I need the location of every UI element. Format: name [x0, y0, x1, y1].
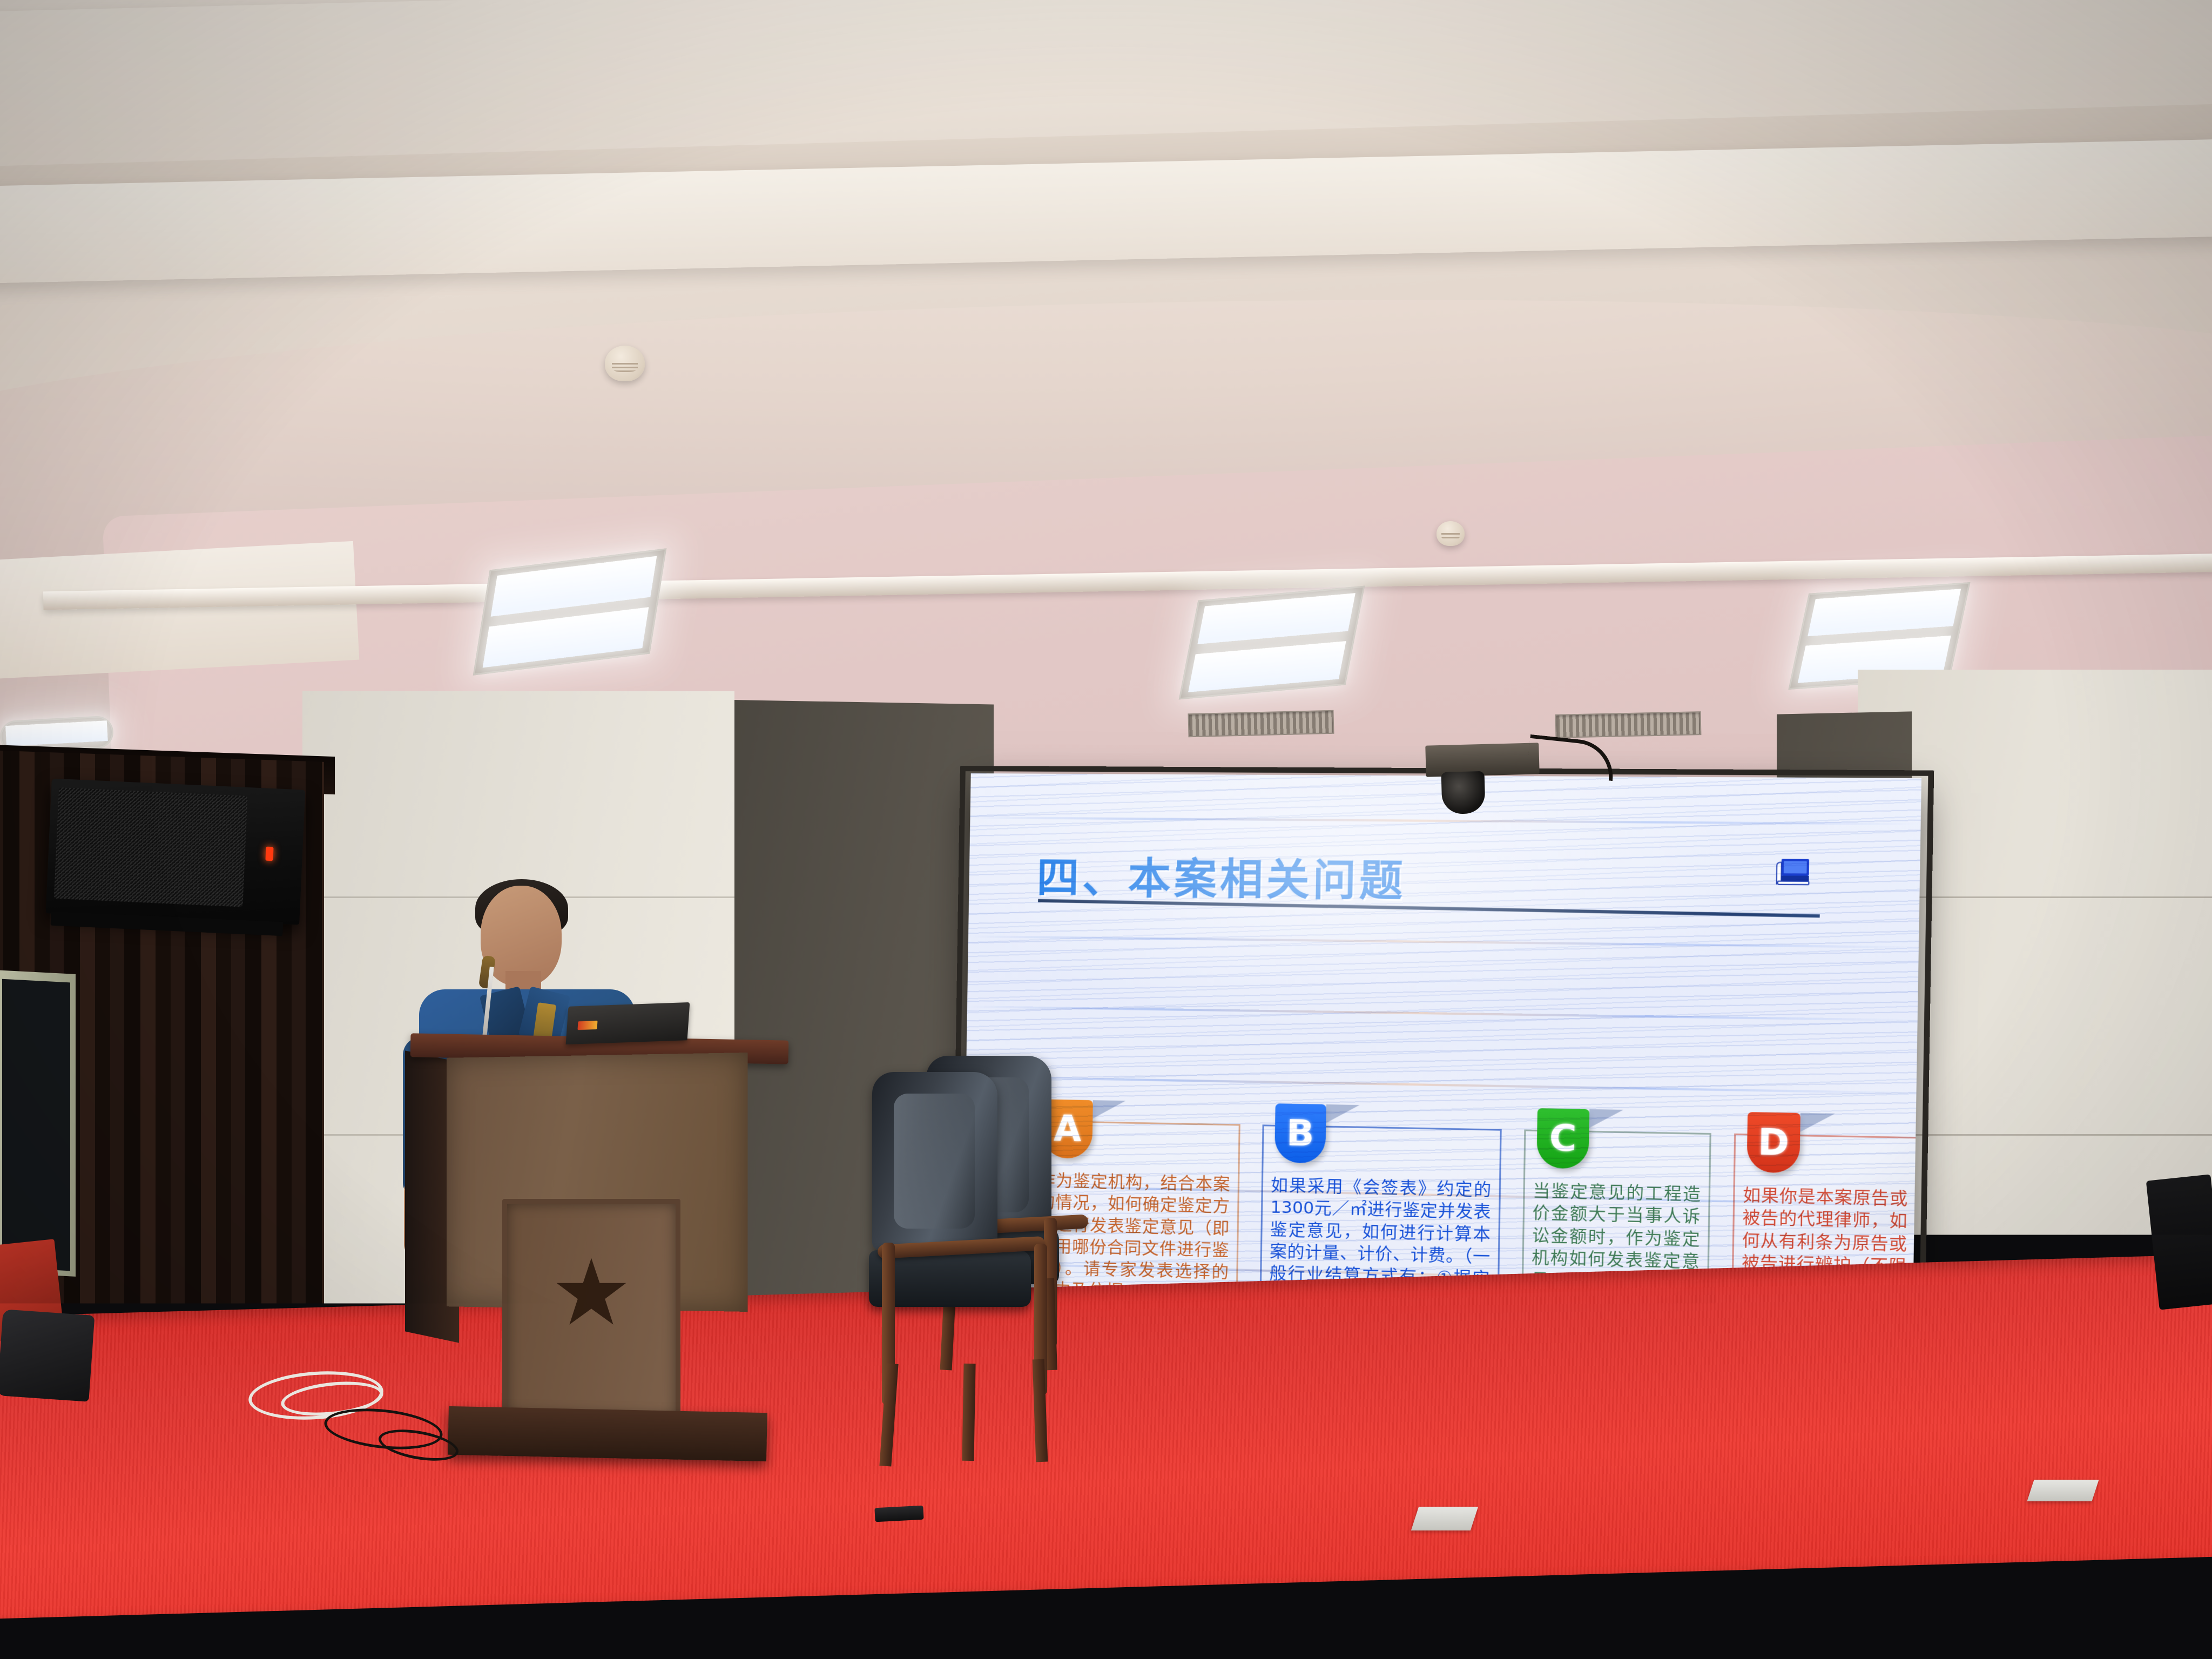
door-opening [2, 979, 70, 1271]
cup-handle[interactable] [1835, 1575, 1900, 1628]
water-bottle[interactable] [529, 1542, 598, 1659]
air-vent [1555, 711, 1702, 738]
card-flag-b [1326, 1104, 1359, 1124]
podium-lectern [437, 1037, 761, 1469]
air-vent [1188, 710, 1334, 738]
black-bag [0, 1309, 95, 1401]
star-emblem-icon [554, 1255, 629, 1331]
laptop-sticker [577, 1021, 597, 1030]
light-pane [1197, 593, 1355, 644]
light-pane [1808, 589, 1961, 637]
ceiling-camera [1425, 743, 1539, 777]
ceiling-light-panel [1179, 586, 1365, 700]
paper-on-floor [1411, 1507, 1478, 1530]
slide-title: 四、本案相关问题 [1036, 844, 1407, 908]
podium-base [448, 1406, 767, 1461]
chair-backrest [872, 1072, 997, 1250]
card-badge-c: C [1536, 1108, 1589, 1169]
led-presentation-screen: 四、本案相关问题 A 作为鉴定机构，结合本案的情况，如何确定鉴定方法进行发表鉴定… [962, 773, 1921, 1333]
speaker-grille [54, 787, 248, 907]
smoke-detector-icon [605, 346, 645, 381]
phone-on-floor [874, 1506, 923, 1522]
smoke-detector-icon [1437, 521, 1465, 546]
bottle-body [532, 1580, 595, 1659]
card-badge-d: D [1746, 1112, 1800, 1173]
travel-cup[interactable] [1777, 1569, 1920, 1659]
speaker-power-led-icon [265, 847, 273, 861]
card-flag-a [1092, 1100, 1125, 1119]
camera-lens-icon [1441, 771, 1486, 814]
laptop-on-podium[interactable] [566, 1002, 690, 1044]
podium-carved-panel [502, 1199, 680, 1431]
card-badge-b: B [1274, 1103, 1326, 1163]
conference-hall-scene: 四、本案相关问题 A 作为鉴定机构，结合本案的情况，如何确定鉴定方法进行发表鉴定… [0, 0, 2212, 1659]
door-frame [0, 970, 76, 1277]
card-flag-d [1800, 1113, 1835, 1132]
light-pane [5, 721, 107, 747]
chair-leg [962, 1364, 975, 1461]
ceiling-left-edge [0, 541, 359, 679]
bottle-cap[interactable] [543, 1542, 584, 1572]
card-flag-c [1589, 1109, 1623, 1129]
paper-on-floor [2027, 1480, 2099, 1501]
light-pane [1188, 641, 1346, 692]
book-icon [1770, 857, 1820, 893]
pa-speaker [46, 778, 306, 925]
